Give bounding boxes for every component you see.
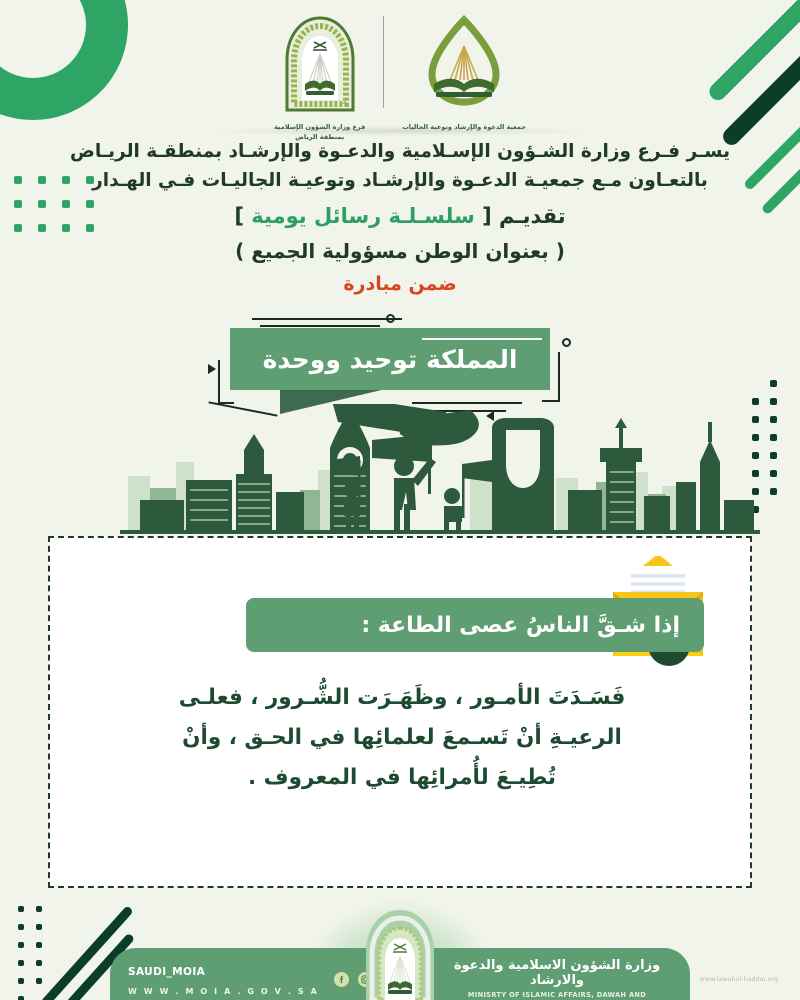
footer-ministry-emblem — [348, 908, 452, 1000]
banner-ink-line-1 — [252, 318, 402, 320]
footer-ministry-arabic: وزارة الشؤون الاسلامية والدعوة والارشاد — [452, 958, 662, 988]
intro-series-prefix: تقديـم [ — [475, 204, 566, 228]
intro-block: يسـر فـرع وزارة الشـؤون الإسـلامية والدع… — [60, 138, 740, 295]
flag-bearers — [330, 404, 492, 534]
card-title: إذا شـقَّ الناسُ عصى الطاعة : — [361, 613, 680, 638]
facebook-glyph — [337, 975, 346, 984]
banner-circle-2 — [562, 338, 571, 347]
footer-handle-block: SAUDI_MOIA W W W . M O I A . G O V . S A — [128, 960, 319, 998]
banner-triangle-left — [208, 364, 216, 374]
card-body-line-3: تُطِيـعَ لأُمرائِها في المعروف . — [90, 758, 714, 798]
card-body-line-2: الرعيـةِ أنْ تَسـمعَ لعلمائِها في الحـق … — [90, 718, 714, 758]
intro-series-highlight: سلسـلـة رسائل يومية — [251, 204, 475, 228]
message-card: 7 إذا شـقَّ الناسُ عصى الطاعة : فَسَـدَت… — [48, 536, 752, 888]
intro-line-2: بالتعـاون مـع جمعيـة الدعـوة والإرشـاد و… — [60, 167, 740, 196]
riyadh-skyline — [0, 404, 800, 534]
banner-circle-1 — [386, 314, 395, 323]
intro-series-suffix: ] — [234, 204, 251, 228]
footer-ministry-english: MINISRTY OF ISLAMIC AFFAIRS, DAWAH AND G… — [452, 991, 662, 1000]
banner-white-accent-line — [422, 338, 542, 340]
header-logos: جمعية الدعوة والإرشاد وتوعية الجاليات — [0, 14, 800, 143]
card-body-line-1: فَسَـدَتَ الأمـور ، وظَهَـرَت الشُّـرور … — [90, 678, 714, 718]
intro-line-1: يسـر فـرع وزارة الشـؤون الإسـلامية والدع… — [60, 138, 740, 167]
dawah-association-logo-icon — [416, 14, 512, 118]
intro-initiative-label: ضمن مبادرة — [60, 273, 740, 295]
footer-ministry-block: وزارة الشؤون الاسلامية والدعوة والارشاد … — [452, 958, 662, 1000]
footer-website: W W W . M O I A . G O V . S A — [128, 987, 319, 996]
poster-root: جمعية الدعوة والإرشاد وتوعية الجاليات — [0, 0, 800, 1000]
logo-divider — [383, 16, 384, 108]
decor-stripe-4 — [761, 131, 800, 216]
banner-ink-line-2 — [260, 325, 380, 327]
header-shadow — [200, 126, 600, 136]
intro-line-4: ( بعنوان الوطن مسؤولية الجميع ) — [60, 239, 740, 263]
card-title-bar: إذا شـقَّ الناسُ عصى الطاعة : — [246, 598, 704, 652]
footer-handle: SAUDI_MOIA — [128, 966, 205, 978]
facebook-icon[interactable] — [334, 972, 349, 987]
card-body: فَسَـدَتَ الأمـور ، وظَهَـرَت الشُّـرور … — [90, 678, 714, 797]
ministry-emblem-icon — [279, 14, 361, 118]
intro-line-3: تقديـم [ سلسـلـة رسائل يومية ] — [60, 201, 740, 233]
banner-title: المملكة توحيد ووحدة — [263, 345, 518, 374]
ministry-emblem: فرع وزارة الشؤون الإسلامية بمنطقة الرياض — [274, 14, 365, 143]
dawah-association-logo: جمعية الدعوة والإرشاد وتوعية الجاليات — [402, 14, 526, 133]
footer-watermark: www.lawahul-haddar.org — [700, 976, 778, 983]
